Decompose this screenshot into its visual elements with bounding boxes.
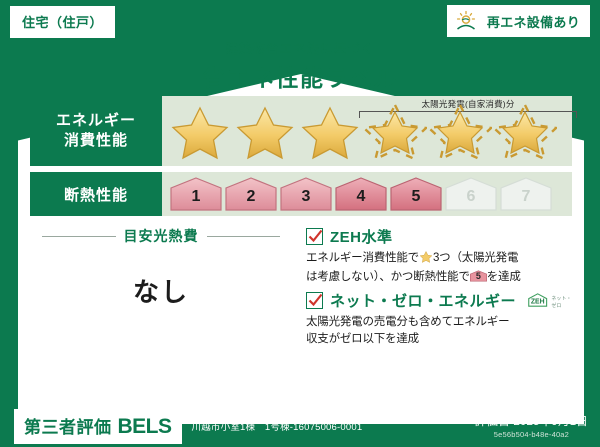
- building-type-tag: 住宅（住戸）: [10, 6, 115, 38]
- rule-right: [207, 236, 281, 237]
- desc-line-2: 収支がゼロ以下を達成: [306, 333, 419, 345]
- energy-head-line2: 消費性能: [64, 131, 128, 151]
- utility-cost-value: なし: [30, 272, 292, 309]
- net-zero-energy-description: 太陽光発電の売電分も含めてエネルギー 収支がゼロ以下を達成: [306, 314, 572, 347]
- insulation-level-label: 3: [302, 189, 311, 209]
- check-item-zeh-standard: ZEH水準 エネルギー消費性能で3つ（太陽光発電 は考慮しない）、かつ断熱性能で…: [306, 226, 572, 285]
- checkbox-checked-icon: [306, 292, 323, 309]
- checkbox-checked-icon: [306, 228, 323, 245]
- energy-performance-label: 住宅（住戸） 再エネ設備あり 建築物省エネ法に基づく 省エネ性能ラベル: [0, 0, 600, 447]
- evaluation-hash: 5e56b504-b48e-40a2: [475, 430, 588, 439]
- star-solar: [363, 102, 427, 160]
- insulation-level-label: 2: [247, 189, 256, 209]
- desc-text-d: を達成: [487, 271, 521, 283]
- insulation-level-4: 4: [335, 177, 387, 211]
- check-item-net-zero-energy: ネット・ゼロ・エネルギー ZEH ネット・ゼロ 太陽光発電の売電分も含めてエネル…: [306, 289, 572, 347]
- bels-certification-plate: 第三者評価 BELS: [14, 409, 182, 444]
- inline-house-level-label: 5: [470, 270, 487, 283]
- inline-house-level-icon: 5: [470, 269, 487, 283]
- utility-cost-title: 目安光熱費: [124, 226, 199, 246]
- insulation-level-scale: 1 2 3: [162, 177, 552, 211]
- compliance-checklist: ZEH水準 エネルギー消費性能で3つ（太陽光発電 は考慮しない）、かつ断熱性能で…: [292, 222, 572, 352]
- rule-left: [42, 236, 116, 237]
- rating-rows: エネルギー 消費性能 太陽光発電(自家消費)分: [30, 96, 572, 222]
- label-content: エネルギー 消費性能 太陽光発電(自家消費)分: [30, 96, 572, 416]
- zeh-logo: ZEH ネット・ゼロ: [526, 289, 572, 311]
- insulation-level-2: 2: [225, 177, 277, 211]
- energy-head-line1: エネルギー: [56, 111, 136, 131]
- energy-star-rating: [162, 102, 557, 160]
- desc-text-b: 3つ（太陽光発電: [433, 252, 518, 264]
- evaluation-date-label: 評価日: [475, 416, 510, 428]
- insulation-performance-head: 断熱性能: [30, 172, 162, 216]
- star-filled: [298, 102, 362, 160]
- evaluation-info: 評価日 2025年9月1日 5e56b504-b48e-40a2: [475, 413, 588, 439]
- lower-section: 目安光熱費 なし ZEH水準: [30, 222, 572, 352]
- insulation-level-1: 1: [170, 177, 222, 211]
- desc-line-1: 太陽光発電の売電分も含めてエネルギー: [306, 316, 509, 328]
- zeh-logo-subtext: ネット・ゼロ: [551, 295, 572, 311]
- footer-bar: 第三者評価 BELS 川越市小室1棟 1号棟-16075006-0001 評価日…: [0, 405, 600, 447]
- star-solar: [493, 102, 557, 160]
- property-identifier: 川越市小室1棟 1号棟-16075006-0001: [192, 419, 363, 433]
- insulation-performance-body: 1 2 3: [162, 172, 572, 216]
- title-subtitle: 建築物省エネ法に基づく: [0, 38, 600, 57]
- svg-text:ZEH: ZEH: [531, 299, 545, 306]
- inline-star-icon: [419, 250, 433, 269]
- renewable-badge-label: 再エネ設備あり: [487, 12, 580, 31]
- evaluation-date: 評価日 2025年9月1日: [475, 413, 588, 429]
- third-party-label: 第三者評価: [24, 413, 112, 438]
- insulation-level-6: 6: [445, 177, 497, 211]
- energy-performance-body: 太陽光発電(自家消費)分: [162, 96, 572, 166]
- net-zero-energy-label: ネット・ゼロ・エネルギー: [330, 290, 516, 311]
- utility-cost-section: 目安光熱費 なし: [30, 222, 292, 352]
- insulation-level-7: 7: [500, 177, 552, 211]
- check-title-row: ネット・ゼロ・エネルギー ZEH ネット・ゼロ: [306, 289, 572, 311]
- desc-text-c: は考慮しない）、かつ断熱性能で: [306, 271, 470, 283]
- star-filled: [233, 102, 297, 160]
- insulation-performance-row: 断熱性能 1: [30, 172, 572, 216]
- sun-icon: [455, 10, 481, 32]
- star-solar: [428, 102, 492, 160]
- insulation-level-label: 5: [412, 189, 421, 209]
- check-title-row: ZEH水準: [306, 226, 572, 247]
- energy-performance-row: エネルギー 消費性能 太陽光発電(自家消費)分: [30, 96, 572, 166]
- insulation-level-label: 1: [192, 189, 201, 209]
- insulation-level-label: 7: [522, 189, 531, 209]
- desc-text-a: エネルギー消費性能で: [306, 252, 419, 264]
- insulation-level-5: 5: [390, 177, 442, 211]
- evaluation-date-value: 2025年9月1日: [513, 416, 588, 428]
- zeh-standard-description: エネルギー消費性能で3つ（太陽光発電 は考慮しない）、かつ断熱性能で5を達成: [306, 250, 572, 285]
- utility-cost-header: 目安光熱費: [30, 226, 292, 246]
- zeh-standard-label: ZEH水準: [330, 226, 393, 247]
- insulation-level-label: 6: [467, 189, 476, 209]
- bels-logo-text: BELS: [118, 415, 172, 439]
- insulation-level-3: 3: [280, 177, 332, 211]
- insulation-level-label: 4: [357, 189, 366, 209]
- renewable-energy-badge: 再エネ設備あり: [447, 5, 590, 37]
- energy-performance-head: エネルギー 消費性能: [30, 96, 162, 166]
- star-filled: [168, 102, 232, 160]
